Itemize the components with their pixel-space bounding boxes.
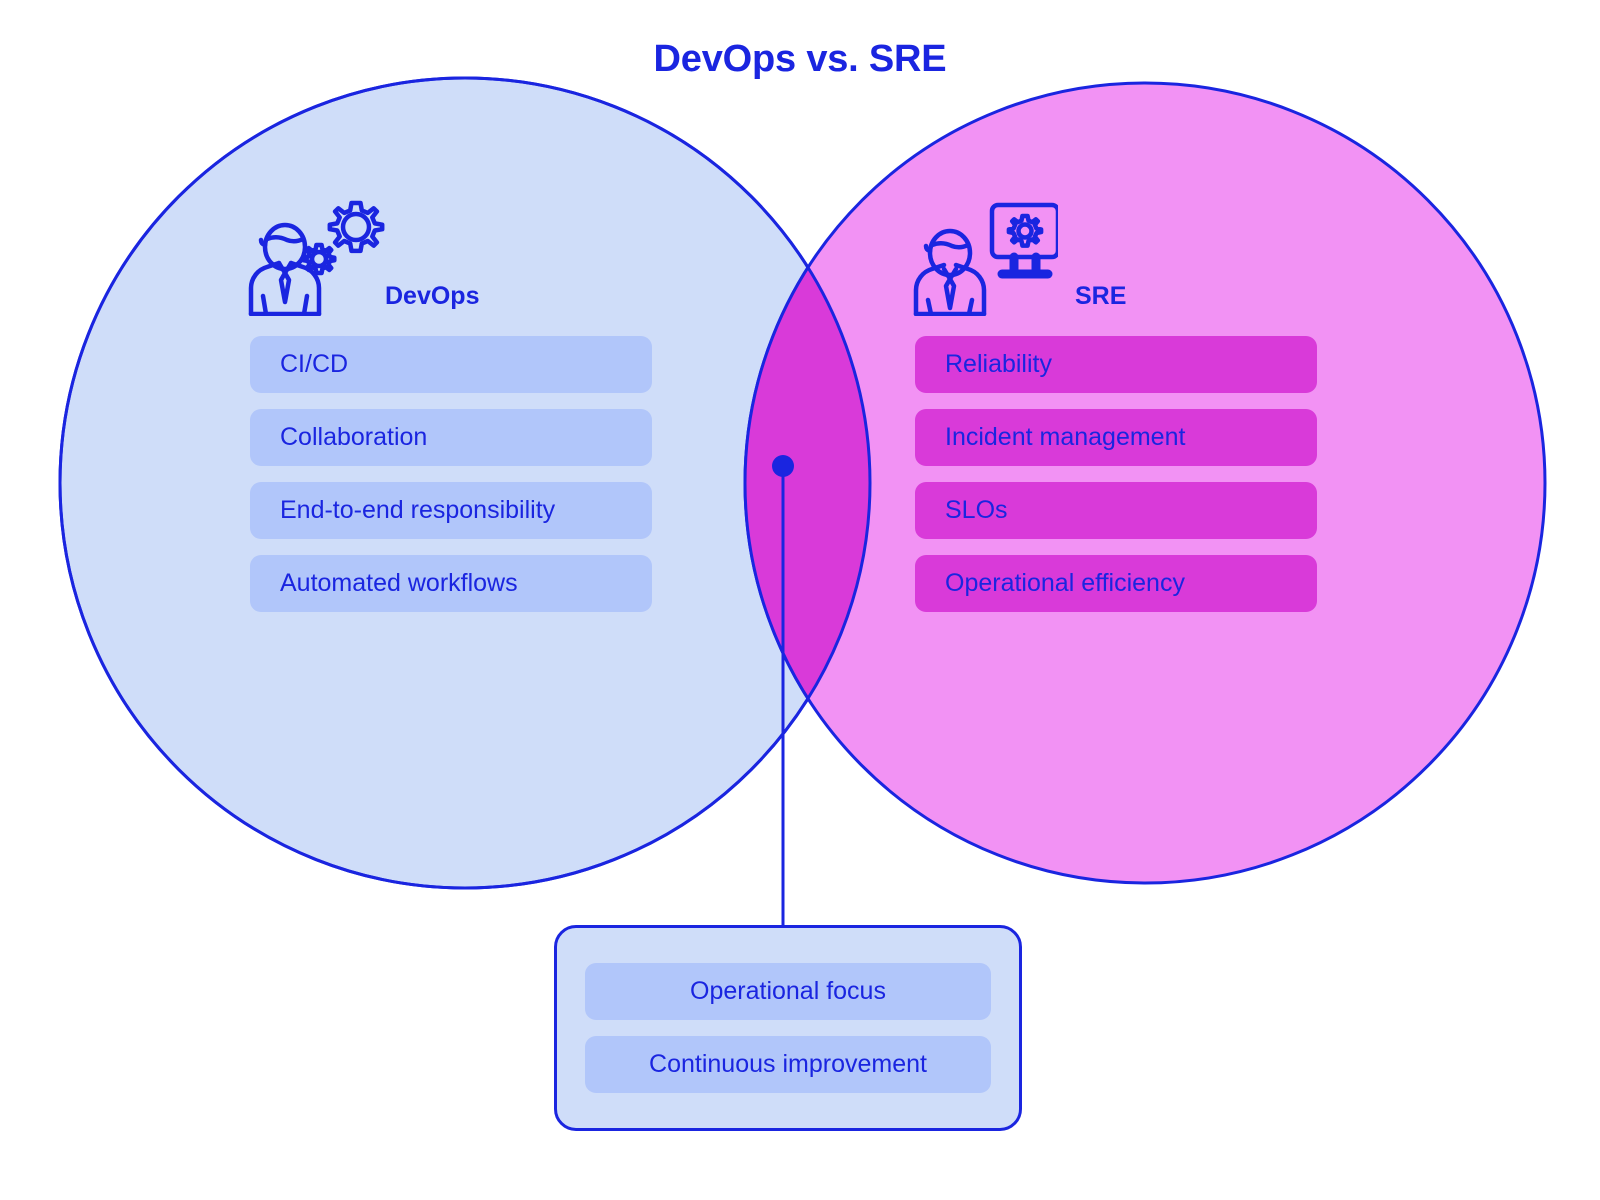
list-item[interactable]: Reliability [915,336,1317,393]
right-items-list: Reliability Incident management SLOs Ope… [915,336,1317,612]
list-item[interactable]: End-to-end responsibility [250,482,652,539]
person-gears-icon [243,196,393,321]
list-item[interactable]: Collaboration [250,409,652,466]
left-items-list: CI/CD Collaboration End-to-end responsib… [250,336,652,612]
right-set-panel: SRE Reliability Incident management SLOs… [900,196,1330,612]
list-item[interactable]: CI/CD [250,336,652,393]
page-title: DevOps vs. SRE [0,38,1600,81]
list-item[interactable]: Automated workflows [250,555,652,612]
list-item[interactable]: Continuous improvement [585,1036,991,1093]
list-item[interactable]: SLOs [915,482,1317,539]
left-set-header: DevOps [235,196,665,336]
shared-items-box: Operational focus Continuous improvement [554,925,1022,1131]
left-set-panel: DevOps CI/CD Collaboration End-to-end re… [235,196,665,612]
intersection-connector-dot [772,455,794,477]
right-set-label: SRE [1075,282,1126,311]
person-monitor-gear-icon [908,196,1058,321]
right-set-header: SRE [900,196,1330,336]
list-item[interactable]: Incident management [915,409,1317,466]
list-item[interactable]: Operational focus [585,963,991,1020]
venn-diagram-canvas: DevOps vs. SRE [0,0,1600,1200]
left-set-label: DevOps [385,282,479,311]
list-item[interactable]: Operational efficiency [915,555,1317,612]
